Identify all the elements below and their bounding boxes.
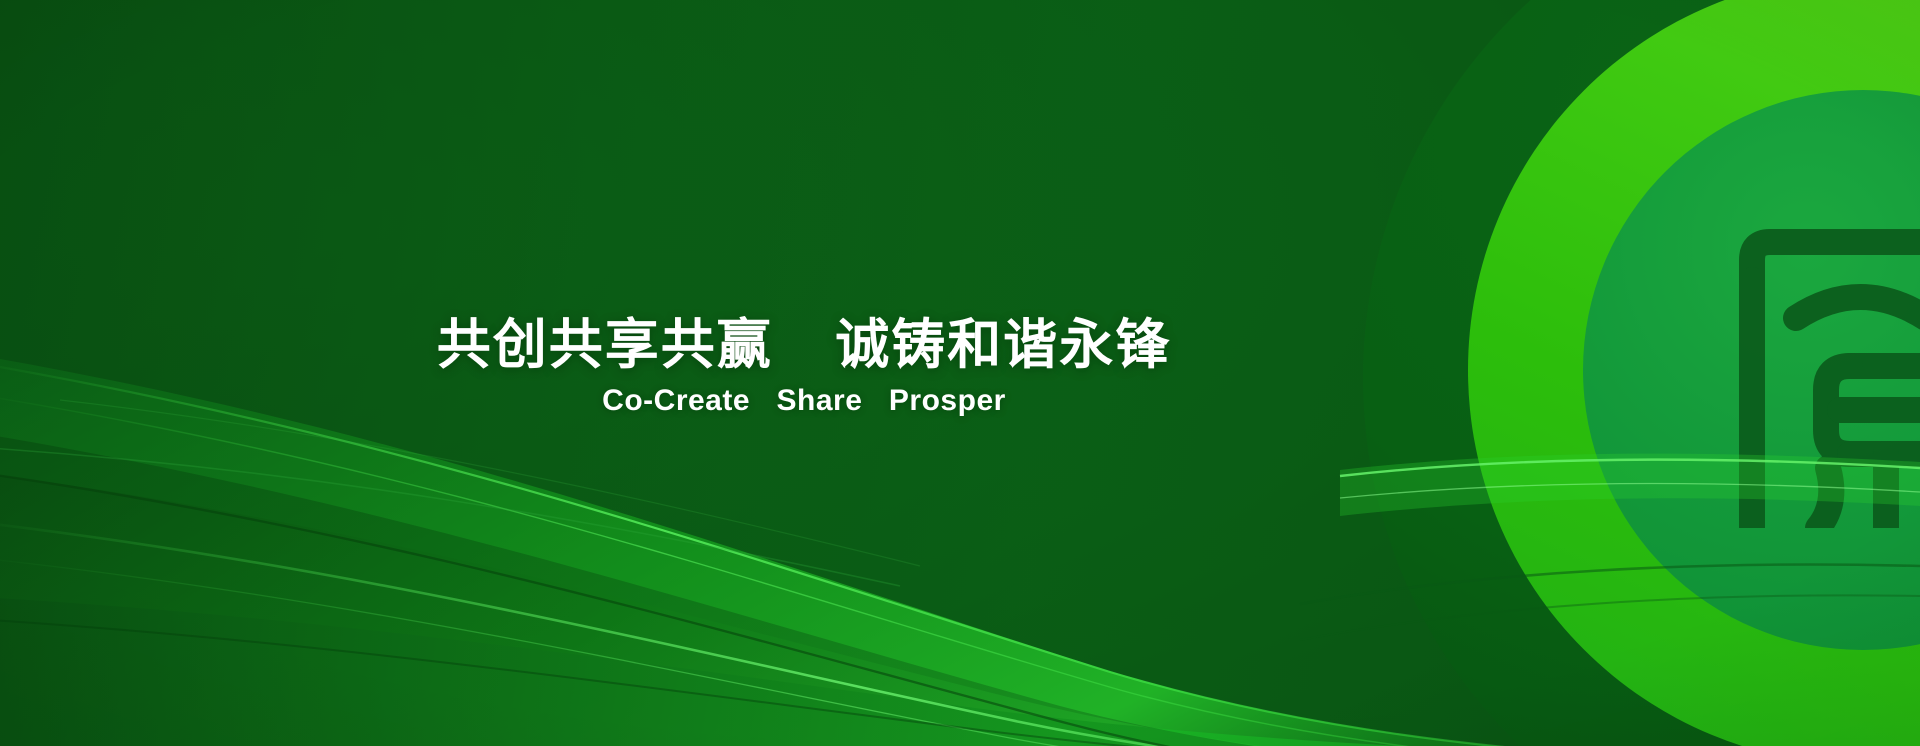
hero-banner: 共创共享共赢 诚铸和谐永锋 Co-Create Share Prosper bbox=[0, 0, 1920, 746]
wave-decoration bbox=[0, 0, 1920, 746]
